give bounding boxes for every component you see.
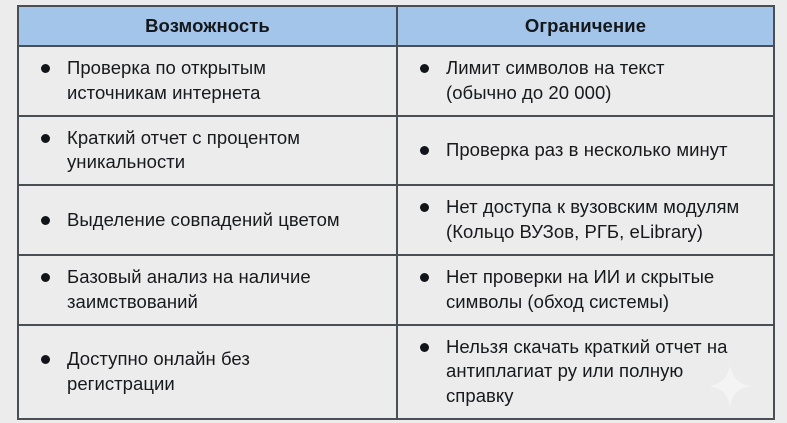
table-header: Возможность Ограничение xyxy=(18,6,774,46)
limitation-text: Нет доступа к вузовским модулям (Кольцо … xyxy=(446,195,739,245)
capability-cell: Краткий отчет с процентом уникальности xyxy=(18,116,397,186)
capability-limitation-table: Возможность Ограничение Проверка по откр… xyxy=(17,5,775,420)
bullet-icon xyxy=(420,64,429,73)
limitation-cell: Нельзя скачать краткий отчет на антиплаг… xyxy=(397,325,774,419)
limitation-text: Проверка раз в несколько минут xyxy=(446,138,728,163)
table-body: Проверка по открытым источникам интернет… xyxy=(18,46,774,419)
comparison-table-container: Возможность Ограничение Проверка по откр… xyxy=(17,5,773,414)
capability-text: Базовый анализ на наличие заимствований xyxy=(67,265,311,315)
capability-text: Проверка по открытым источникам интернет… xyxy=(67,56,266,106)
table-row: Краткий отчет с процентом уникальности П… xyxy=(18,116,774,186)
column-header-limitation: Ограничение xyxy=(397,6,774,46)
limitation-cell: Лимит символов на текст (обычно до 20 00… xyxy=(397,46,774,116)
bullet-icon xyxy=(41,134,50,143)
table-row: Базовый анализ на наличие заимствований … xyxy=(18,255,774,325)
bullet-icon xyxy=(420,343,429,352)
limitation-text: Лимит символов на текст (обычно до 20 00… xyxy=(446,56,665,106)
capability-text: Краткий отчет с процентом уникальности xyxy=(67,126,300,176)
bullet-icon xyxy=(41,355,50,364)
limitation-cell: Проверка раз в несколько минут xyxy=(397,116,774,186)
capability-cell: Доступно онлайн без регистрации xyxy=(18,325,397,419)
bullet-icon xyxy=(420,273,429,282)
limitation-text: Нельзя скачать краткий отчет на антиплаг… xyxy=(446,335,728,409)
bullet-icon xyxy=(420,146,429,155)
limitation-text: Нет проверки на ИИ и скрытые символы (об… xyxy=(446,265,714,315)
column-header-capability: Возможность xyxy=(18,6,397,46)
limitation-cell: Нет проверки на ИИ и скрытые символы (об… xyxy=(397,255,774,325)
capability-text: Доступно онлайн без регистрации xyxy=(67,347,250,397)
capability-cell: Выделение совпадений цветом xyxy=(18,185,397,255)
bullet-icon xyxy=(420,203,429,212)
table-row: Проверка по открытым источникам интернет… xyxy=(18,46,774,116)
capability-cell: Проверка по открытым источникам интернет… xyxy=(18,46,397,116)
capability-cell: Базовый анализ на наличие заимствований xyxy=(18,255,397,325)
bullet-icon xyxy=(41,64,50,73)
table-row: Доступно онлайн без регистрации Нельзя с… xyxy=(18,325,774,419)
limitation-cell: Нет доступа к вузовским модулям (Кольцо … xyxy=(397,185,774,255)
bullet-icon xyxy=(41,216,50,225)
capability-text: Выделение совпадений цветом xyxy=(67,208,340,233)
table-row: Выделение совпадений цветом Нет доступа … xyxy=(18,185,774,255)
bullet-icon xyxy=(41,273,50,282)
table-header-row: Возможность Ограничение xyxy=(18,6,774,46)
